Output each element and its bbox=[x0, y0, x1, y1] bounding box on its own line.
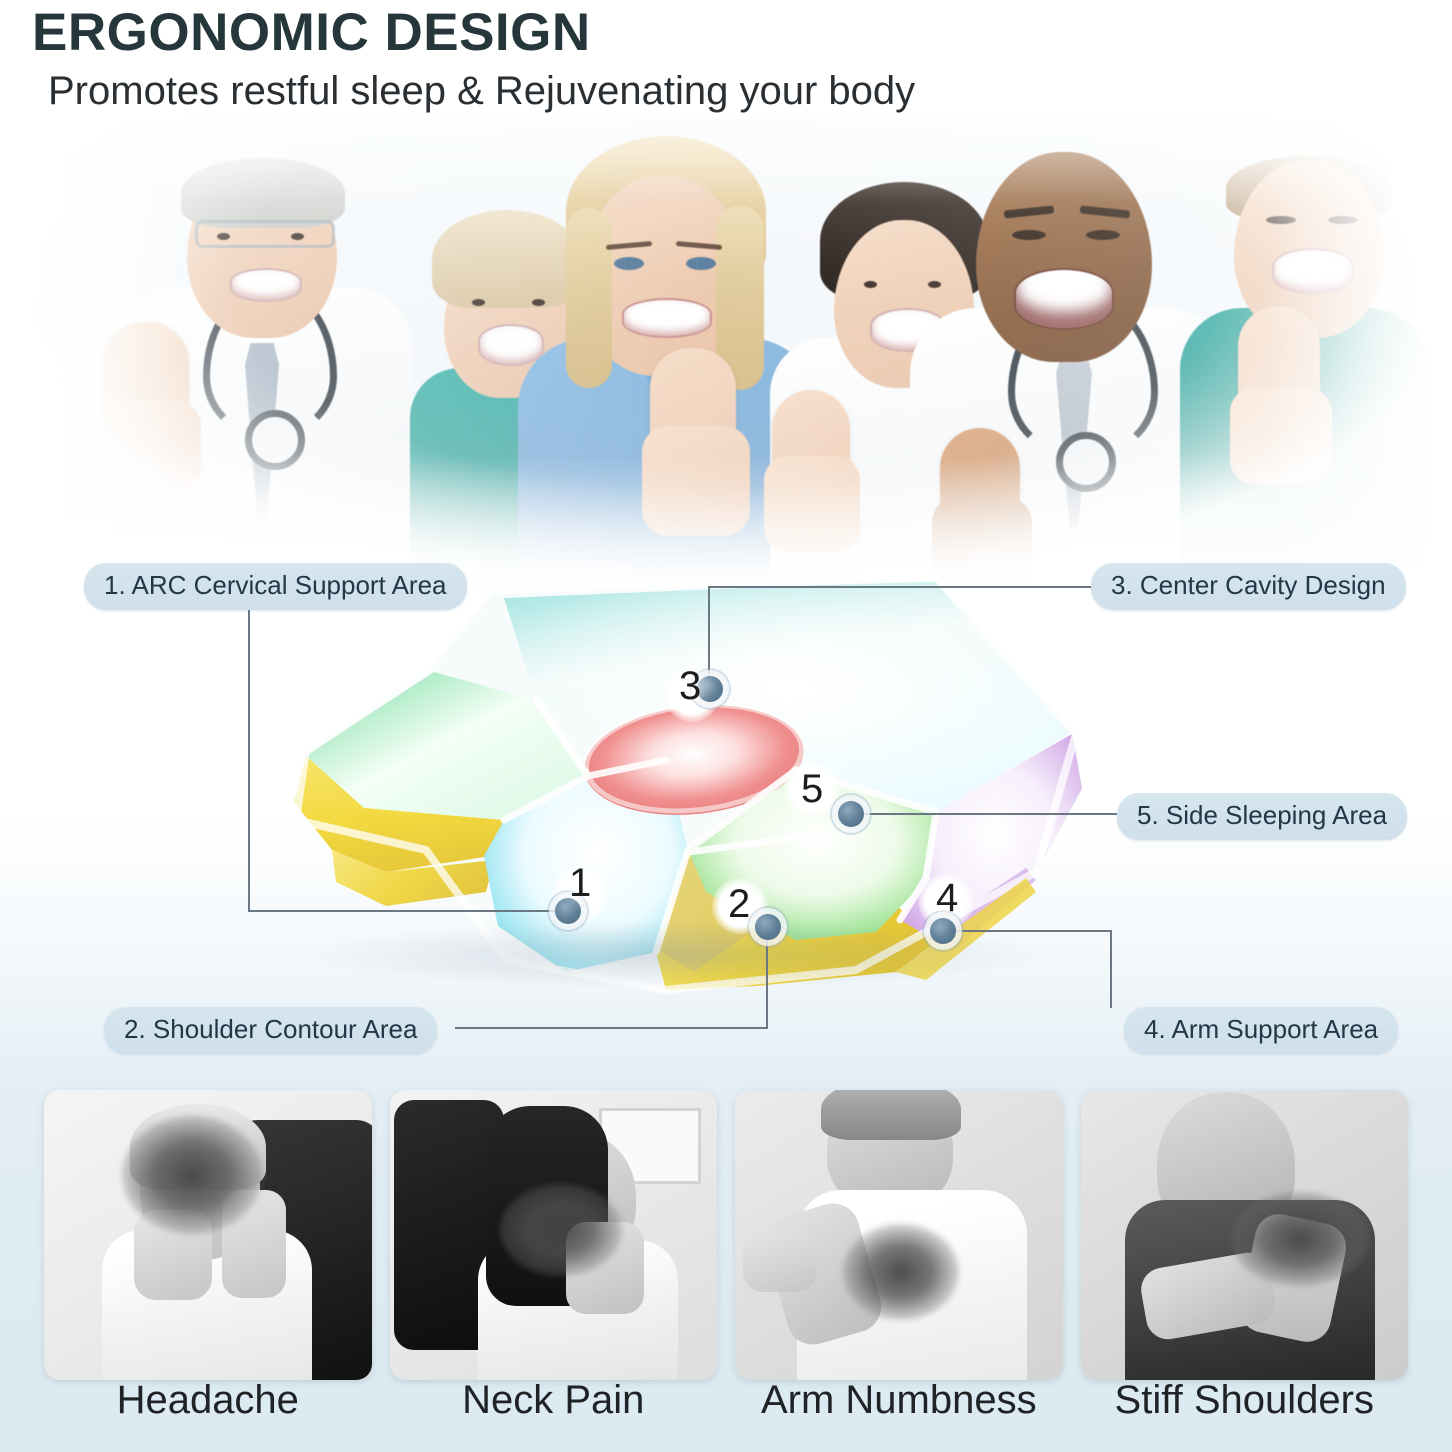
zone-number-5: 5 bbox=[801, 767, 823, 812]
hero-photo-doctors-thumbs-up bbox=[0, 118, 1452, 588]
callout-label-2[interactable]: 2. Shoulder Contour Area bbox=[104, 1007, 437, 1054]
pain-highlight-shoulder bbox=[1231, 1192, 1369, 1286]
symptom-caption-stiff-shoulders: Stiff Shoulders bbox=[1081, 1378, 1409, 1423]
symptom-card-stiff-shoulders[interactable] bbox=[1081, 1090, 1409, 1380]
zone-marker-4[interactable] bbox=[930, 918, 956, 944]
symptom-photo-arm-numbness bbox=[735, 1090, 1063, 1380]
pain-highlight-neck bbox=[500, 1184, 622, 1276]
infographic-root: ERGONOMIC DESIGN Promotes restful sleep … bbox=[0, 0, 1452, 1452]
callout-label-1[interactable]: 1. ARC Cervical Support Area bbox=[84, 563, 467, 610]
header-block: ERGONOMIC DESIGN Promotes restful sleep … bbox=[32, 4, 1132, 113]
symptom-card-row bbox=[44, 1090, 1408, 1380]
symptom-card-arm-numbness[interactable] bbox=[735, 1090, 1063, 1380]
callout-label-3[interactable]: 3. Center Cavity Design bbox=[1091, 563, 1406, 610]
callout-label-4[interactable]: 4. Arm Support Area bbox=[1124, 1007, 1398, 1054]
page-subtitle: Promotes restful sleep & Rejuvenating yo… bbox=[48, 69, 1132, 113]
zone-marker-5[interactable] bbox=[838, 801, 864, 827]
zone-number-1: 1 bbox=[569, 861, 591, 906]
pain-highlight-head bbox=[122, 1116, 262, 1234]
symptom-caption-headache: Headache bbox=[44, 1378, 372, 1423]
symptom-card-neck-pain[interactable] bbox=[390, 1090, 718, 1380]
symptom-caption-row: Headache Neck Pain Arm Numbness Stiff Sh… bbox=[44, 1378, 1408, 1423]
symptom-photo-headache bbox=[44, 1090, 372, 1380]
symptom-card-headache[interactable] bbox=[44, 1090, 372, 1380]
symptom-caption-neck-pain: Neck Pain bbox=[390, 1378, 718, 1423]
symptom-photo-neck-pain bbox=[390, 1090, 718, 1380]
symptom-caption-arm-numbness: Arm Numbness bbox=[735, 1378, 1063, 1423]
hero-edge-fade bbox=[0, 118, 1452, 588]
zone-number-2: 2 bbox=[728, 882, 750, 927]
callout-label-5[interactable]: 5. Side Sleeping Area bbox=[1117, 793, 1407, 840]
symptom-photo-stiff-shoulders bbox=[1081, 1090, 1409, 1380]
pain-highlight-arm bbox=[843, 1224, 959, 1320]
zone-marker-2[interactable] bbox=[755, 914, 781, 940]
page-title: ERGONOMIC DESIGN bbox=[32, 4, 1132, 61]
zone-number-4: 4 bbox=[936, 876, 958, 921]
zone-number-3: 3 bbox=[679, 664, 701, 709]
